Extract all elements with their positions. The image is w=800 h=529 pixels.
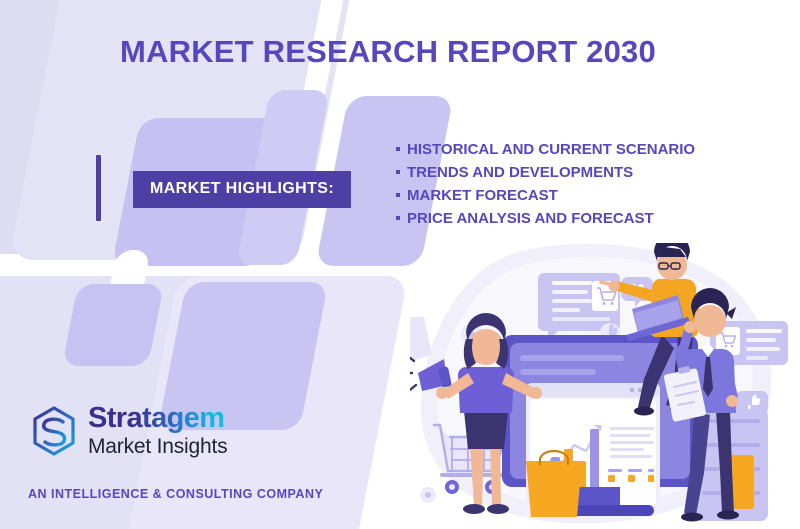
brand-name-secondary: Market Insights xyxy=(88,436,227,457)
list-item: MARKET FORECAST xyxy=(396,184,695,207)
bullet-square-icon xyxy=(396,216,400,220)
poster-canvas: MARKET RESEARCH REPORT 2030 MARKET HIGHL… xyxy=(0,0,800,529)
list-item: PRICE ANALYSIS AND FORECAST xyxy=(396,207,695,230)
bg-fragment-left xyxy=(410,317,432,361)
brand-logo[interactable]: Stratagem Market Insights xyxy=(28,404,227,457)
page-title: MARKET RESEARCH REPORT 2030 xyxy=(120,34,656,70)
bullet-square-icon xyxy=(396,147,400,151)
company-tagline: AN INTELLIGENCE & CONSULTING COMPANY xyxy=(28,487,323,501)
bg-shape-bottom-small xyxy=(62,284,164,366)
list-item: TRENDS AND DEVELOPMENTS xyxy=(396,161,695,184)
brand-wordmark: Stratagem Market Insights xyxy=(88,404,227,457)
bullet-square-icon xyxy=(396,170,400,174)
deco-dot-inner xyxy=(425,492,431,498)
list-item-label: TRENDS AND DEVELOPMENTS xyxy=(407,161,633,184)
highlights-list: HISTORICAL AND CURRENT SCENARIO TRENDS A… xyxy=(396,138,695,230)
brand-name-primary: Stratagem xyxy=(88,404,227,433)
market-highlights-badge: MARKET HIGHLIGHTS: xyxy=(133,171,351,208)
market-research-team-illustration xyxy=(410,243,800,529)
list-item-label: MARKET FORECAST xyxy=(407,184,558,207)
badge-accent-bar xyxy=(96,155,101,221)
bullet-square-icon xyxy=(396,193,400,197)
hexagon-s-icon xyxy=(28,405,80,457)
list-item-label: HISTORICAL AND CURRENT SCENARIO xyxy=(407,138,695,161)
list-item: HISTORICAL AND CURRENT SCENARIO xyxy=(396,138,695,161)
bg-shape-white-notch xyxy=(103,250,151,320)
list-item-label: PRICE ANALYSIS AND FORECAST xyxy=(407,207,654,230)
